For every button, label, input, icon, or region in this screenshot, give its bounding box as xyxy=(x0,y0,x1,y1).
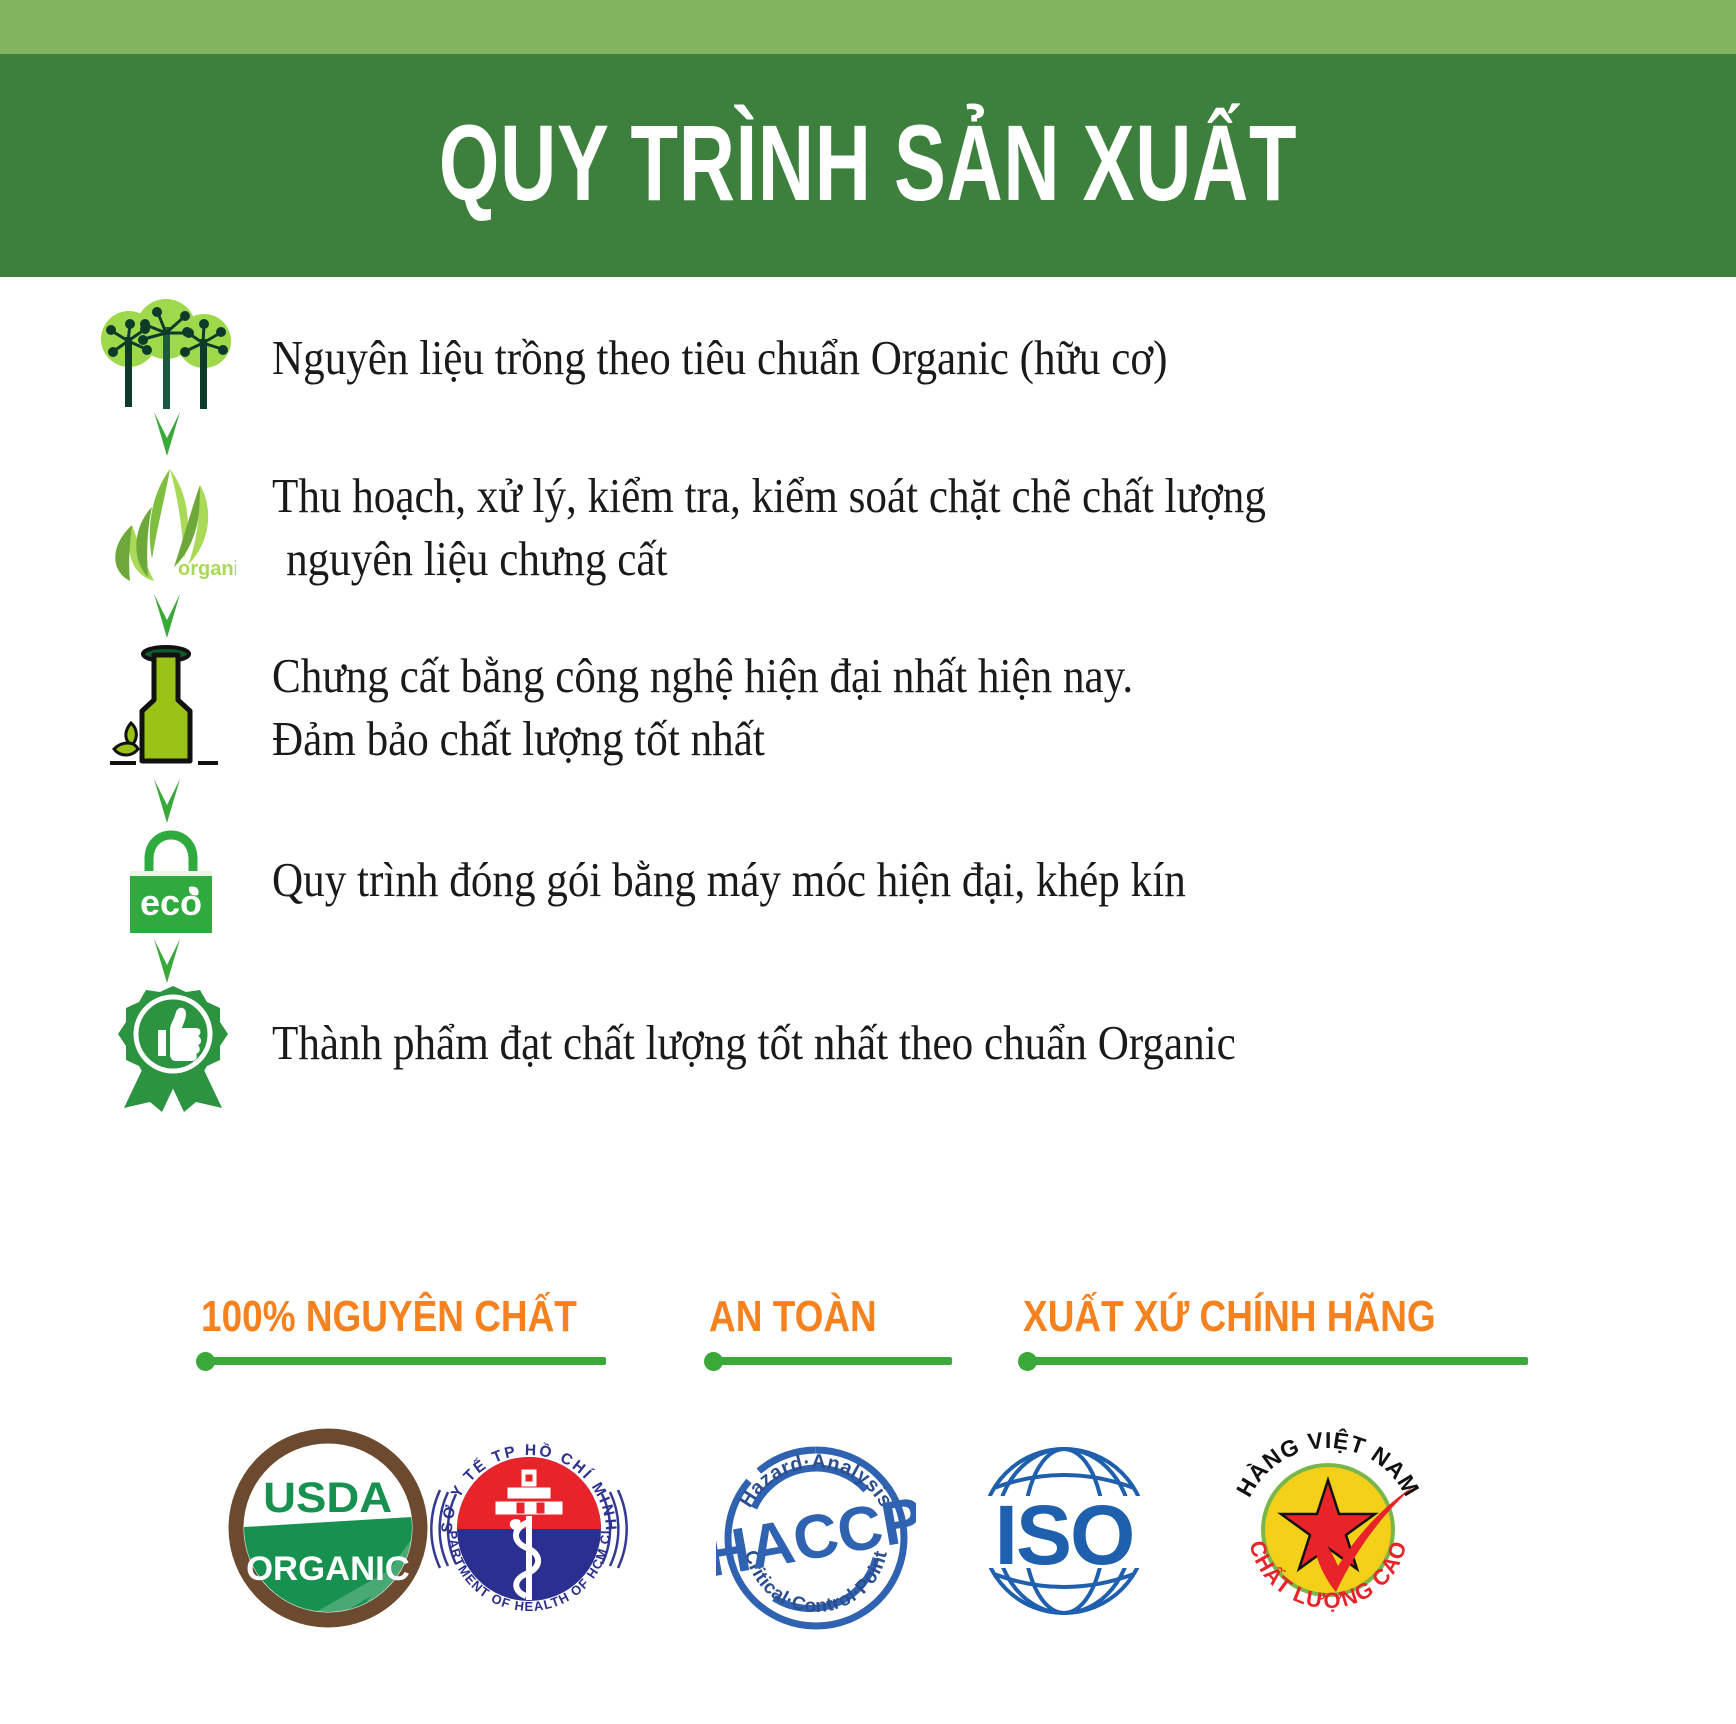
usda-organic-seal: USDA ORGANIC xyxy=(228,1428,428,1628)
oil-bottle-icon xyxy=(106,645,226,770)
step-3-line-1: Chưng cất bằng công nghệ hiện đại nhất h… xyxy=(272,648,1133,703)
step-5-line-1: Thành phẩm đạt chất lượng tốt nhất theo … xyxy=(272,1015,1236,1070)
feature-label-2: XUẤT XỨ CHÍNH HÃNG xyxy=(1018,1295,1455,1339)
step-2-line-2: nguyên liệu chưng cất xyxy=(272,528,1266,591)
feature-rule-2 xyxy=(1018,1355,1538,1367)
flow-arrow-1-icon xyxy=(150,410,184,472)
step-2-line-1: Thu hoạch, xử lý, kiểm tra, kiểm soát ch… xyxy=(272,468,1266,523)
step-4-text: Quy trình đóng gói bằng máy móc hiện đại… xyxy=(272,849,1186,912)
usda-seal-line-2: ORGANIC xyxy=(246,1550,410,1588)
hang-viet-nam-chat-luong-cao-seal: HÀNG VIỆT NAM CHẤT LƯỢNG CAO xyxy=(1218,1416,1438,1636)
haccp-seal: Hazard·Analysis Critical·Control·Point H… xyxy=(716,1438,916,1638)
step-5-text: Thành phẩm đạt chất lượng tốt nhất theo … xyxy=(272,1012,1236,1075)
feature-rule-bar xyxy=(206,1357,606,1365)
step-1-line-1: Nguyên liệu trồng theo tiêu chuẩn Organi… xyxy=(272,330,1168,385)
feature-label-1: AN TOÀN xyxy=(704,1295,914,1339)
feature-item-0: 100% NGUYÊN CHẤT xyxy=(196,1295,616,1367)
iso-text: ISO xyxy=(995,1488,1134,1582)
feature-rule-dot xyxy=(196,1352,215,1371)
feature-rule-0 xyxy=(196,1355,616,1367)
usda-seal-line-1: USDA xyxy=(263,1474,392,1522)
feature-rule-dot xyxy=(704,1352,723,1371)
step-3-text: Chưng cất bằng công nghệ hiện đại nhất h… xyxy=(272,645,1133,770)
feature-rule-1 xyxy=(704,1355,954,1367)
step-2-text: Thu hoạch, xử lý, kiểm tra, kiểm soát ch… xyxy=(272,465,1266,590)
feature-item-2: XUẤT XỨ CHÍNH HÃNG xyxy=(1018,1295,1538,1367)
department-of-health-hcm-city-seal: SỞ Y TẾ TP HỒ CHÍ MINH DEPARTMENT OF HEA… xyxy=(426,1422,632,1628)
feature-label-0: 100% NGUYÊN CHẤT xyxy=(196,1295,549,1339)
step-4-line-1: Quy trình đóng gói bằng máy móc hiện đại… xyxy=(272,852,1186,907)
feature-rule-dot xyxy=(1018,1352,1037,1371)
certification-logos: USDA ORGANIC xyxy=(0,1410,1736,1680)
step-3-line-2: Đảm bảo chất lượng tốt nhất xyxy=(272,708,1133,771)
organic-leaves-icon: organic xyxy=(96,467,236,582)
feature-rule-bar xyxy=(1028,1357,1528,1365)
three-trees-icon xyxy=(96,299,236,409)
header-accent-band xyxy=(0,0,1736,54)
feature-highlights: 100% NGUYÊN CHẤT AN TOÀN XUẤT XỨ CHÍNH H… xyxy=(0,1295,1736,1405)
feature-item-1: AN TOÀN xyxy=(704,1295,954,1367)
iso-logo: ISO xyxy=(944,1444,1184,1619)
header-band: QUY TRÌNH SẢN XUẤT xyxy=(0,54,1736,277)
page-title: QUY TRÌNH SẢN XUẤT xyxy=(439,109,1297,223)
feature-rule-bar xyxy=(714,1357,952,1365)
eco-bag-icon: eco xyxy=(116,829,226,939)
quality-badge-icon xyxy=(108,982,238,1112)
organic-leaves-label: organic xyxy=(178,558,236,580)
step-1-text: Nguyên liệu trồng theo tiêu chuẩn Organi… xyxy=(272,327,1168,390)
